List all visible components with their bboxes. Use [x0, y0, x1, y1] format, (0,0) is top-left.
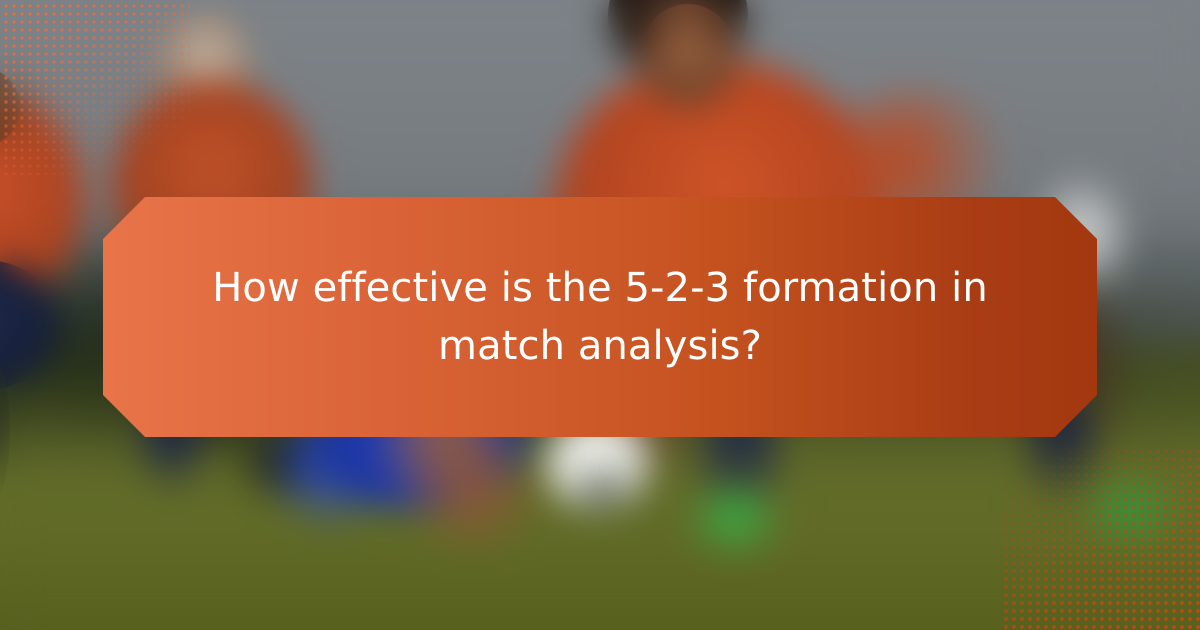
title-banner: How effective is the 5-2-3 formation in …: [103, 197, 1097, 437]
social-card: How effective is the 5-2-3 formation in …: [0, 0, 1200, 630]
page-title: How effective is the 5-2-3 formation in …: [185, 259, 1015, 375]
